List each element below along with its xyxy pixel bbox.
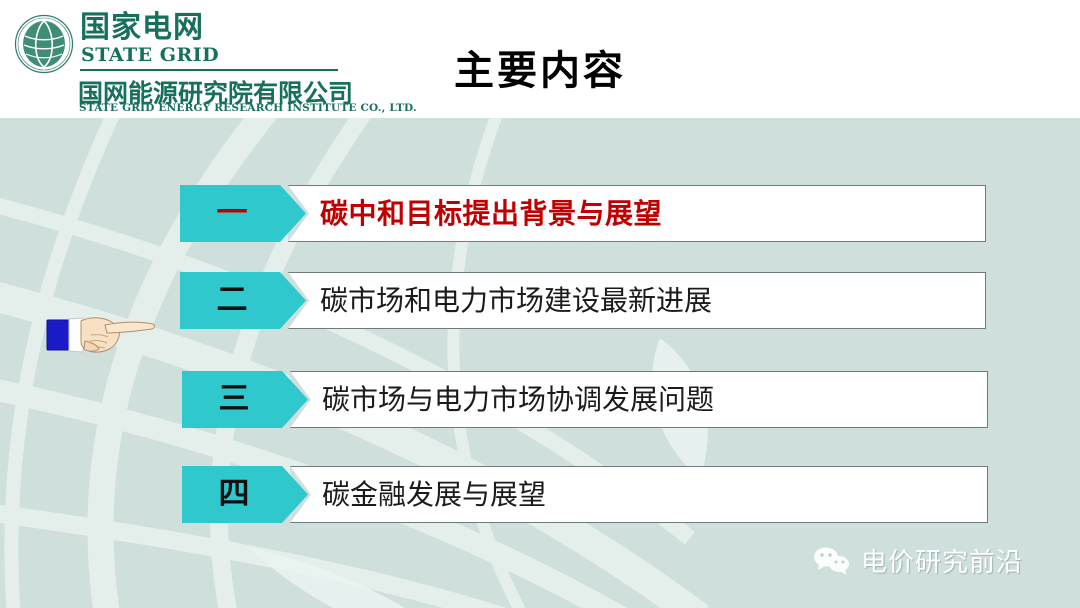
institute-name-en: STATE GRID ENERGY RESEARCH INSTITUTE CO.… <box>79 102 417 114</box>
wechat-watermark: 电价研究前沿 <box>812 540 1023 580</box>
agenda-row-number: 四 <box>182 466 286 523</box>
watermark-label: 电价研究前沿 <box>861 542 1023 579</box>
page-title: 主要内容 <box>0 38 1080 96</box>
slide-body-background: 一 碳中和目标提出背景与展望 二 碳市场和电力市场建设最新进展 三 碳市场与电力… <box>0 118 1080 608</box>
agenda-row-number: 二 <box>180 272 284 329</box>
agenda-row-number: 一 <box>180 185 284 242</box>
pointing-hand-icon <box>45 308 165 360</box>
agenda-row-label: 碳市场与电力市场协调发展问题 <box>322 371 714 428</box>
slide-canvas: 一 碳中和目标提出背景与展望 二 碳市场和电力市场建设最新进展 三 碳市场与电力… <box>0 0 1080 608</box>
agenda-row-number: 三 <box>182 371 286 428</box>
agenda-row-label: 碳中和目标提出背景与展望 <box>320 185 662 242</box>
agenda-row-label: 碳金融发展与展望 <box>322 466 546 523</box>
slide-header: 国家电网 STATE GRID 国网能源研究院有限公司 STATE GRID E… <box>0 0 1080 118</box>
agenda-row-label: 碳市场和电力市场建设最新进展 <box>320 272 712 329</box>
wechat-icon <box>812 545 852 575</box>
